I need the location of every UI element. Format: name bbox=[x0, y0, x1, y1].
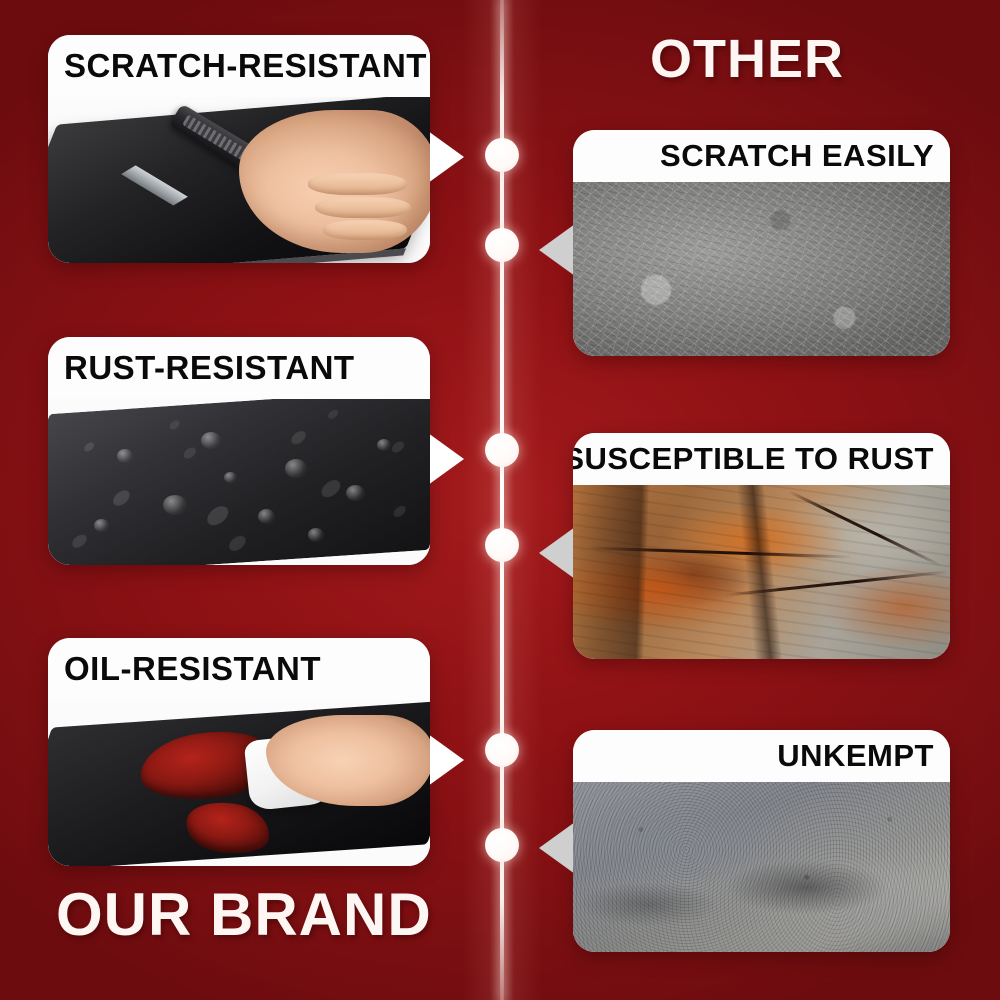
water-bead bbox=[224, 472, 237, 483]
card-title-oil-resistant: OIL-RESISTANT bbox=[48, 638, 430, 700]
card-image-knife-on-board bbox=[48, 97, 430, 263]
divider-dot-3 bbox=[485, 433, 519, 467]
rust-crack-line bbox=[588, 547, 852, 559]
column-heading-our-brand: OUR BRAND bbox=[56, 880, 432, 949]
water-bead bbox=[163, 495, 187, 515]
card-scratch-resistant[interactable]: SCRATCH-RESISTANT bbox=[48, 35, 430, 263]
card-title-scratch-easily: SCRATCH EASILY bbox=[573, 130, 950, 182]
card-image-water-beads bbox=[48, 399, 430, 565]
card-tail-left bbox=[539, 224, 575, 276]
finger-shape-3 bbox=[323, 220, 407, 240]
divider-dot-5 bbox=[485, 733, 519, 767]
water-bead bbox=[94, 519, 109, 532]
card-image-oil-wipe bbox=[48, 700, 430, 866]
finger-shape-1 bbox=[308, 173, 407, 195]
card-unkempt[interactable]: UNKEMPT bbox=[573, 730, 950, 952]
card-image-scratched-metal bbox=[573, 182, 950, 356]
card-title-scratch-resistant: SCRATCH-RESISTANT bbox=[48, 35, 430, 97]
water-bead bbox=[117, 449, 133, 463]
divider-glow bbox=[462, 0, 542, 1000]
water-bead bbox=[377, 439, 391, 451]
divider-dot-2 bbox=[485, 228, 519, 262]
rust-crack-line bbox=[788, 490, 942, 567]
card-tail-left bbox=[539, 527, 575, 579]
card-susceptible-to-rust[interactable]: SUSCEPTIBLE TO RUST bbox=[573, 433, 950, 659]
card-title-susceptible-to-rust: SUSCEPTIBLE TO RUST bbox=[573, 433, 950, 485]
card-image-dirty-concrete bbox=[573, 782, 950, 952]
black-board-shape bbox=[48, 399, 430, 565]
divider-dot-1 bbox=[485, 138, 519, 172]
card-tail-right bbox=[428, 433, 464, 485]
divider-dot-6 bbox=[485, 828, 519, 862]
comparison-infographic: OTHER OUR BRAND SCRATCH-RESISTANT RUST-R… bbox=[0, 0, 1000, 1000]
water-bead bbox=[285, 459, 307, 478]
card-rust-resistant[interactable]: RUST-RESISTANT bbox=[48, 337, 430, 565]
card-title-rust-resistant: RUST-RESISTANT bbox=[48, 337, 430, 399]
rust-crack-line bbox=[724, 571, 949, 598]
card-tail-right bbox=[428, 131, 464, 183]
finger-shape-2 bbox=[315, 197, 411, 219]
card-tail-left bbox=[539, 822, 575, 874]
water-bead bbox=[201, 432, 221, 449]
divider-dot-4 bbox=[485, 528, 519, 562]
card-title-unkempt: UNKEMPT bbox=[573, 730, 950, 782]
water-bead bbox=[258, 509, 275, 524]
card-scratch-easily[interactable]: SCRATCH EASILY bbox=[573, 130, 950, 356]
divider-line bbox=[500, 0, 504, 1000]
card-oil-resistant[interactable]: OIL-RESISTANT bbox=[48, 638, 430, 866]
card-image-rusted-metal bbox=[573, 485, 950, 659]
column-heading-other: OTHER bbox=[650, 28, 844, 90]
card-tail-right bbox=[428, 734, 464, 786]
